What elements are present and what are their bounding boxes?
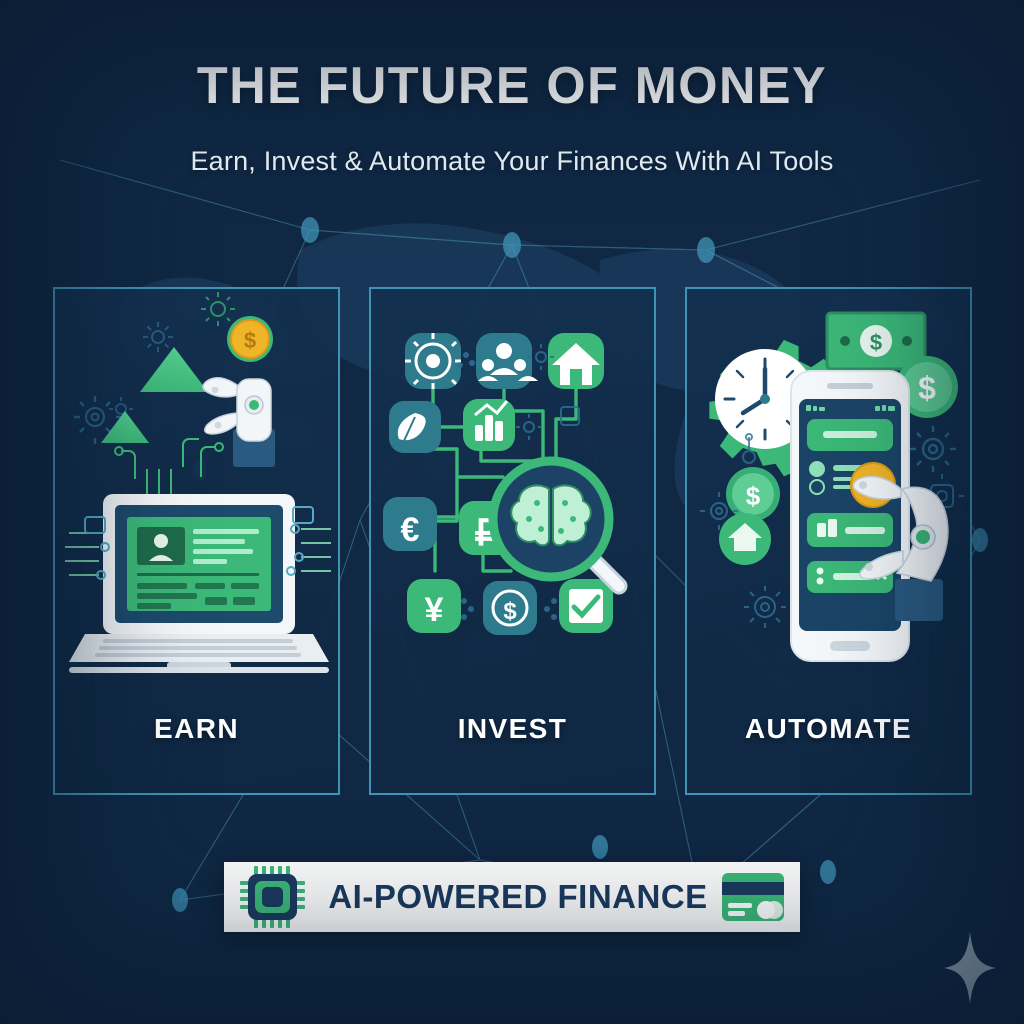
- svg-text:$: $: [746, 481, 761, 511]
- feature-card-invest[interactable]: € ₽ ¥ $: [369, 287, 656, 795]
- earn-illustration: $: [55, 289, 338, 689]
- card-label-invest: INVEST: [371, 713, 654, 745]
- gold-coin: $: [227, 316, 273, 362]
- ai-powered-finance-badge[interactable]: AI-POWERED FINANCE: [224, 862, 800, 932]
- card-label-earn: EARN: [55, 713, 338, 745]
- house-coin: [719, 513, 771, 565]
- svg-text:$: $: [918, 370, 936, 406]
- credit-card-icon: [722, 873, 784, 921]
- feature-card-earn[interactable]: $: [53, 287, 340, 795]
- feature-card-row: $: [53, 287, 972, 795]
- automate-illustration: $ $ $: [687, 289, 970, 689]
- svg-text:$: $: [870, 330, 882, 355]
- svg-text:$: $: [503, 598, 517, 625]
- laptop: [69, 494, 329, 673]
- four-point-sparkle-icon: [944, 932, 996, 1004]
- dollar-banknote: $: [827, 313, 925, 369]
- invest-illustration: € ₽ ¥ $: [371, 289, 654, 689]
- poster-header: THE FUTURE OF MONEY Earn, Invest & Autom…: [0, 60, 1024, 177]
- magnifier-brain: [493, 461, 619, 586]
- page-title: THE FUTURE OF MONEY: [15, 60, 1008, 112]
- svg-text:$: $: [244, 328, 256, 353]
- card-label-automate: AUTOMATE: [687, 713, 970, 745]
- badge-label: AI-POWERED FINANCE: [324, 878, 712, 916]
- feature-card-automate[interactable]: $ $ $: [685, 287, 972, 795]
- smartphone: [791, 371, 909, 661]
- dollar-coin-small: $: [726, 467, 780, 521]
- svg-text:€: €: [401, 511, 420, 549]
- page-subtitle: Earn, Invest & Automate Your Finances Wi…: [0, 146, 1024, 177]
- poster-canvas: THE FUTURE OF MONEY Earn, Invest & Autom…: [0, 0, 1024, 1024]
- svg-text:¥: ¥: [425, 591, 444, 629]
- ai-chip-icon: [240, 866, 314, 928]
- robot-arm: [203, 378, 275, 467]
